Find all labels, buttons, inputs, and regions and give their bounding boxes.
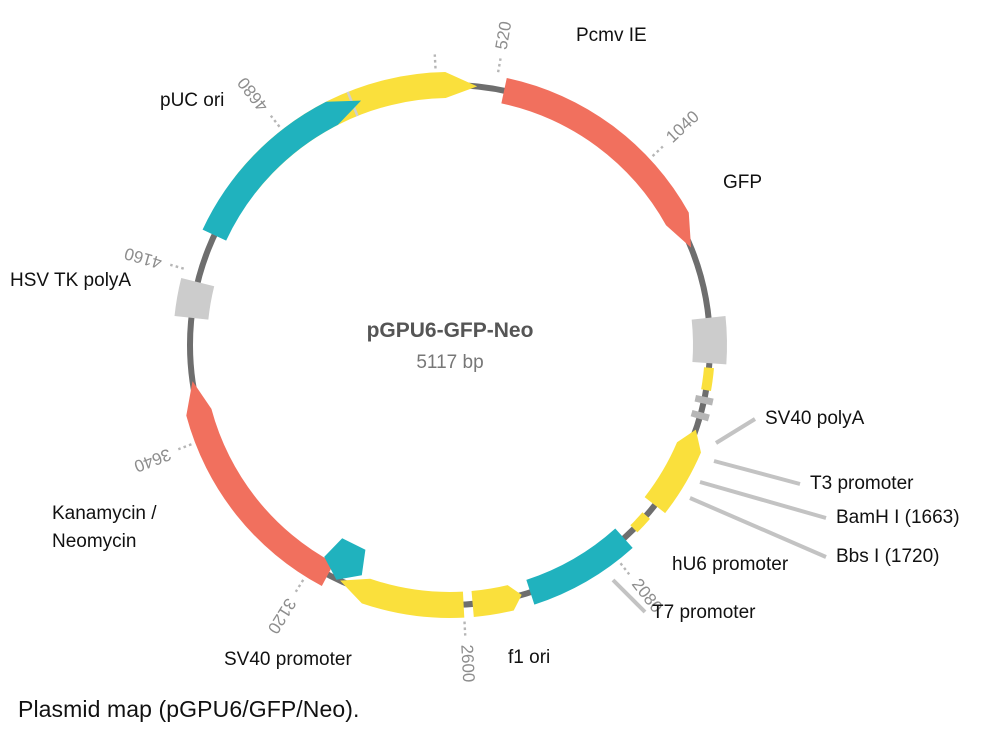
feature-label-pcmv-ie: Pcmv IE (576, 25, 647, 46)
feature-label-kanamycin-neomycin: Kanamycin / (52, 503, 157, 524)
feature-label-hsv-tk-polya: HSV TK polyA (10, 270, 131, 291)
tick-mark (464, 622, 465, 636)
feature-arc-t3-promoter[interactable] (701, 367, 714, 391)
feature-label-hu6-promoter: hU6 promoter (672, 554, 789, 575)
feature-label-sv40-polya: SV40 polyA (765, 408, 865, 429)
tick-label-520: 520 (492, 20, 516, 51)
plasmid-diagram: 5201040208026003120364041604680 Pcmv IEG… (0, 0, 982, 690)
feature-label-gfp: GFP (723, 172, 762, 193)
tick-mark (271, 116, 280, 127)
feature-arc-kanamycin-neomycin[interactable] (186, 381, 334, 586)
leader-line-t3-promoter (714, 461, 800, 484)
feature-labels: Pcmv IEGFPSV40 polyAT3 promoterBamH I (1… (10, 25, 960, 670)
feature-arc-pcmv-ie[interactable] (235, 72, 477, 193)
tick-label-3640: 3640 (132, 445, 174, 476)
feature-arcs (175, 72, 727, 618)
leader-line-sv40-polya (716, 419, 755, 443)
tick-mark (296, 580, 303, 592)
tick-mark (178, 444, 191, 449)
feature-arc-f1-ori[interactable] (526, 529, 632, 605)
tick-label-2600: 2600 (457, 644, 478, 683)
page-title: pGPU6-GFP-Neo (367, 319, 534, 342)
feature-label-sv40-promoter: SV40 promoter (224, 649, 352, 670)
tick-mark (170, 265, 183, 269)
feature-label-puc-ori: pUC ori (160, 90, 224, 111)
tick-label-1040: 1040 (662, 107, 703, 147)
tick-label-4160: 4160 (122, 244, 164, 273)
feature-label-kanamycin-neomycin-line2: Neomycin (52, 531, 136, 552)
tick-mark (621, 563, 630, 574)
feature-arc-puc-ori[interactable] (203, 101, 361, 241)
feature-label-bamh-i-1663: BamH I (1663) (836, 507, 960, 528)
feature-arc-hsv-tk-polya[interactable] (175, 278, 215, 320)
feature-label-t7-promoter: T7 promoter (652, 602, 756, 623)
feature-arc-sv40-polya[interactable] (692, 316, 727, 364)
feature-label-t3-promoter: T3 promoter (810, 473, 914, 494)
feature-label-f1-ori: f1 ori (508, 647, 550, 668)
feature-arc-unnamed-small-arrow[interactable] (472, 585, 522, 617)
leader-line-bbs-i-1720 (690, 498, 826, 557)
tick-mark (498, 58, 500, 72)
feature-arc-gfp[interactable] (501, 78, 691, 248)
plasmid-size: 5117 bp (416, 352, 483, 373)
center-label: pGPU6-GFP-Neo 5117 bp (367, 319, 534, 373)
tick-label-3120: 3120 (264, 595, 300, 637)
figure-caption: Plasmid map (pGPU6/GFP/Neo). (18, 696, 360, 723)
tick-label-4680: 4680 (234, 74, 272, 116)
feature-label-bbs-i-1720: Bbs I (1720) (836, 546, 940, 567)
tick-mark (653, 147, 663, 157)
feature-arc-sv40-promoter[interactable] (340, 579, 464, 618)
tick-mark (435, 54, 436, 68)
plasmid-map-figure: 5201040208026003120364041604680 Pcmv IEG… (0, 0, 982, 690)
